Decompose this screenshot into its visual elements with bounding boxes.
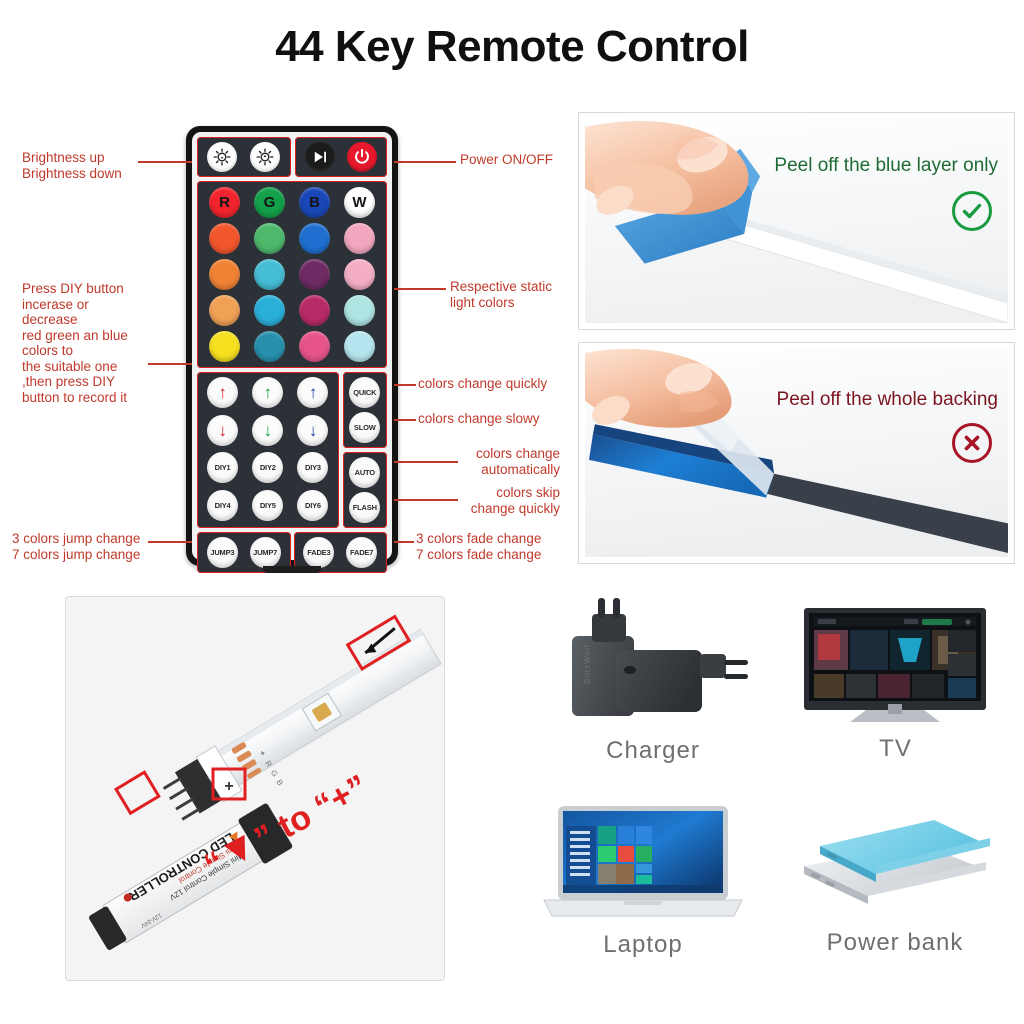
- annotation-jump: 3 colors jump change 7 colors jump chang…: [12, 531, 140, 562]
- sun-down-icon: [255, 147, 275, 167]
- sun-up-icon: [212, 147, 232, 167]
- remote-bottom-edge: [263, 566, 321, 573]
- color-button-9[interactable]: [209, 259, 240, 290]
- device-label-power-bank: Power bank: [790, 929, 1000, 957]
- annotation-fade: 3 colors fade change 7 colors fade chang…: [416, 531, 541, 562]
- color-button-5[interactable]: [209, 223, 240, 254]
- diy-button-diy5[interactable]: DIY5: [252, 490, 283, 521]
- arrow-diy-group: ↑↑↑↓↓↓DIY1DIY2DIY3DIY4DIY5DIY6: [197, 372, 339, 528]
- device-label-laptop: Laptop: [538, 931, 748, 959]
- annotation-power: Power ON/OFF: [460, 152, 553, 168]
- power-icon: [353, 148, 371, 166]
- mode-button-quick[interactable]: QUICK: [349, 377, 380, 408]
- color-button-7[interactable]: [299, 223, 330, 254]
- device-tv: TV: [788, 604, 1003, 763]
- annotation-brightness: Brightness up Brightness down: [22, 150, 122, 181]
- leader-brightness: [138, 161, 192, 163]
- diy-button-diy1[interactable]: DIY1: [207, 452, 238, 483]
- color-button-14[interactable]: [254, 295, 285, 326]
- color-button-20[interactable]: [344, 331, 375, 362]
- leader-static: [394, 288, 446, 290]
- color-button-11[interactable]: [299, 259, 330, 290]
- color-button-8[interactable]: [344, 223, 375, 254]
- remote-faceplate: RGBW ↑↑↑↓↓↓DIY1DIY2DIY3DIY4DIY5DIY6 QUIC…: [192, 132, 392, 560]
- controller-install-card: + R G B Mini Simple Control 12V Mini Sim…: [65, 596, 445, 981]
- color-button-4[interactable]: W: [344, 187, 375, 218]
- peel-whole-scene: [585, 349, 1008, 557]
- play-pause-icon: [311, 149, 329, 165]
- fade-button-fade3[interactable]: FADE3: [303, 537, 334, 568]
- photo-caption-peel-blue: Peel off the blue layer only: [774, 155, 998, 177]
- brightness-down-button[interactable]: [250, 142, 280, 172]
- color-button-1[interactable]: R: [209, 187, 240, 218]
- brightness-group: [197, 137, 291, 177]
- color-button-18[interactable]: [254, 331, 285, 362]
- leader-slow: [394, 419, 416, 421]
- annotation-auto: colors change automatically: [398, 446, 560, 477]
- leader-power: [394, 161, 456, 163]
- brightness-up-button[interactable]: [207, 142, 237, 172]
- mode-button-flash[interactable]: FLASH: [349, 492, 380, 523]
- device-laptop: Laptop: [538, 800, 748, 959]
- color-button-13[interactable]: [209, 295, 240, 326]
- fade-button-fade7[interactable]: FADE7: [346, 537, 377, 568]
- page-title: 44 Key Remote Control: [0, 22, 1024, 72]
- diy-button-diy3[interactable]: DIY3: [297, 452, 328, 483]
- device-label-tv: TV: [788, 735, 1003, 763]
- device-label-charger: Charger: [548, 737, 758, 765]
- photo-caption-peel-whole: Peel off the whole backing: [777, 389, 998, 411]
- color-button-label: W: [352, 194, 366, 211]
- color-button-3[interactable]: B: [299, 187, 330, 218]
- arrow-button-blue-up[interactable]: ↑: [297, 377, 328, 408]
- leader-quick: [394, 384, 416, 386]
- remote-top-row: [197, 137, 387, 177]
- arrow-button-red-up[interactable]: ↑: [207, 377, 238, 408]
- device-charger: BlitzWolf Charger: [548, 598, 758, 765]
- annotation-quick: colors change quickly: [418, 376, 547, 392]
- check-badge: [952, 191, 992, 231]
- color-button-10[interactable]: [254, 259, 285, 290]
- auto-flash-group: AUTOFLASH: [343, 452, 387, 528]
- mode-button-auto[interactable]: AUTO: [349, 457, 380, 488]
- cross-badge: [952, 423, 992, 463]
- play-pause-button[interactable]: [305, 142, 335, 172]
- mode-column: QUICKSLOW AUTOFLASH: [343, 372, 387, 528]
- device-power-bank: Power bank: [790, 808, 1000, 957]
- arrow-button-blue-down[interactable]: ↓: [297, 415, 328, 446]
- arrow-button-red-down[interactable]: ↓: [207, 415, 238, 446]
- jump-button-jump7[interactable]: JUMP7: [250, 537, 281, 568]
- peel-blue-illustration: [585, 119, 1008, 323]
- color-button-16[interactable]: [344, 295, 375, 326]
- mode-button-slow[interactable]: SLOW: [349, 412, 380, 443]
- jump-button-jump3[interactable]: JUMP3: [207, 537, 238, 568]
- remote-control: RGBW ↑↑↑↓↓↓DIY1DIY2DIY3DIY4DIY5DIY6 QUIC…: [186, 126, 398, 566]
- cross-icon: [961, 432, 983, 454]
- color-button-6[interactable]: [254, 223, 285, 254]
- leader-jump: [148, 541, 192, 543]
- arrow-button-green-up[interactable]: ↑: [252, 377, 283, 408]
- peel-whole-illustration: [585, 349, 1008, 557]
- leader-diy: [148, 363, 192, 365]
- laptop-icon: [538, 800, 748, 922]
- svg-text:+: +: [224, 778, 233, 795]
- color-button-label: R: [219, 194, 230, 211]
- peel-blue-scene: [585, 119, 1008, 323]
- diy-button-diy6[interactable]: DIY6: [297, 490, 328, 521]
- function-area: ↑↑↑↓↓↓DIY1DIY2DIY3DIY4DIY5DIY6 QUICKSLOW…: [197, 372, 387, 528]
- svg-text:BlitzWolf: BlitzWolf: [583, 644, 592, 684]
- color-button-2[interactable]: G: [254, 187, 285, 218]
- power-button[interactable]: [347, 142, 377, 172]
- diy-button-diy4[interactable]: DIY4: [207, 490, 238, 521]
- check-icon: [960, 199, 984, 223]
- photo-card-peel-whole: Peel off the whole backing: [578, 342, 1015, 564]
- power-group: [295, 137, 387, 177]
- arrow-button-green-down[interactable]: ↓: [252, 415, 283, 446]
- photo-card-peel-blue: Peel off the blue layer only: [578, 112, 1015, 330]
- color-button-12[interactable]: [344, 259, 375, 290]
- power-bank-icon: [790, 808, 1000, 920]
- annotation-static-colors: Respective static light colors: [450, 279, 552, 310]
- diy-button-diy2[interactable]: DIY2: [252, 452, 283, 483]
- annotation-diy: Press DIY button incerase or decrease re…: [22, 281, 128, 405]
- annotation-flash: colors skip change quickly: [398, 485, 560, 516]
- annotation-slow: colors change slowy: [418, 411, 540, 427]
- color-button-label: G: [264, 194, 276, 211]
- color-button-grid: RGBW: [197, 181, 387, 368]
- wall-charger-icon: BlitzWolf: [548, 598, 758, 728]
- speed-mode-group: QUICKSLOW: [343, 372, 387, 448]
- color-button-19[interactable]: [299, 331, 330, 362]
- leader-fade: [394, 541, 414, 543]
- color-button-label: B: [309, 194, 320, 211]
- television-icon: [788, 604, 1003, 726]
- color-button-17[interactable]: [209, 331, 240, 362]
- color-button-15[interactable]: [299, 295, 330, 326]
